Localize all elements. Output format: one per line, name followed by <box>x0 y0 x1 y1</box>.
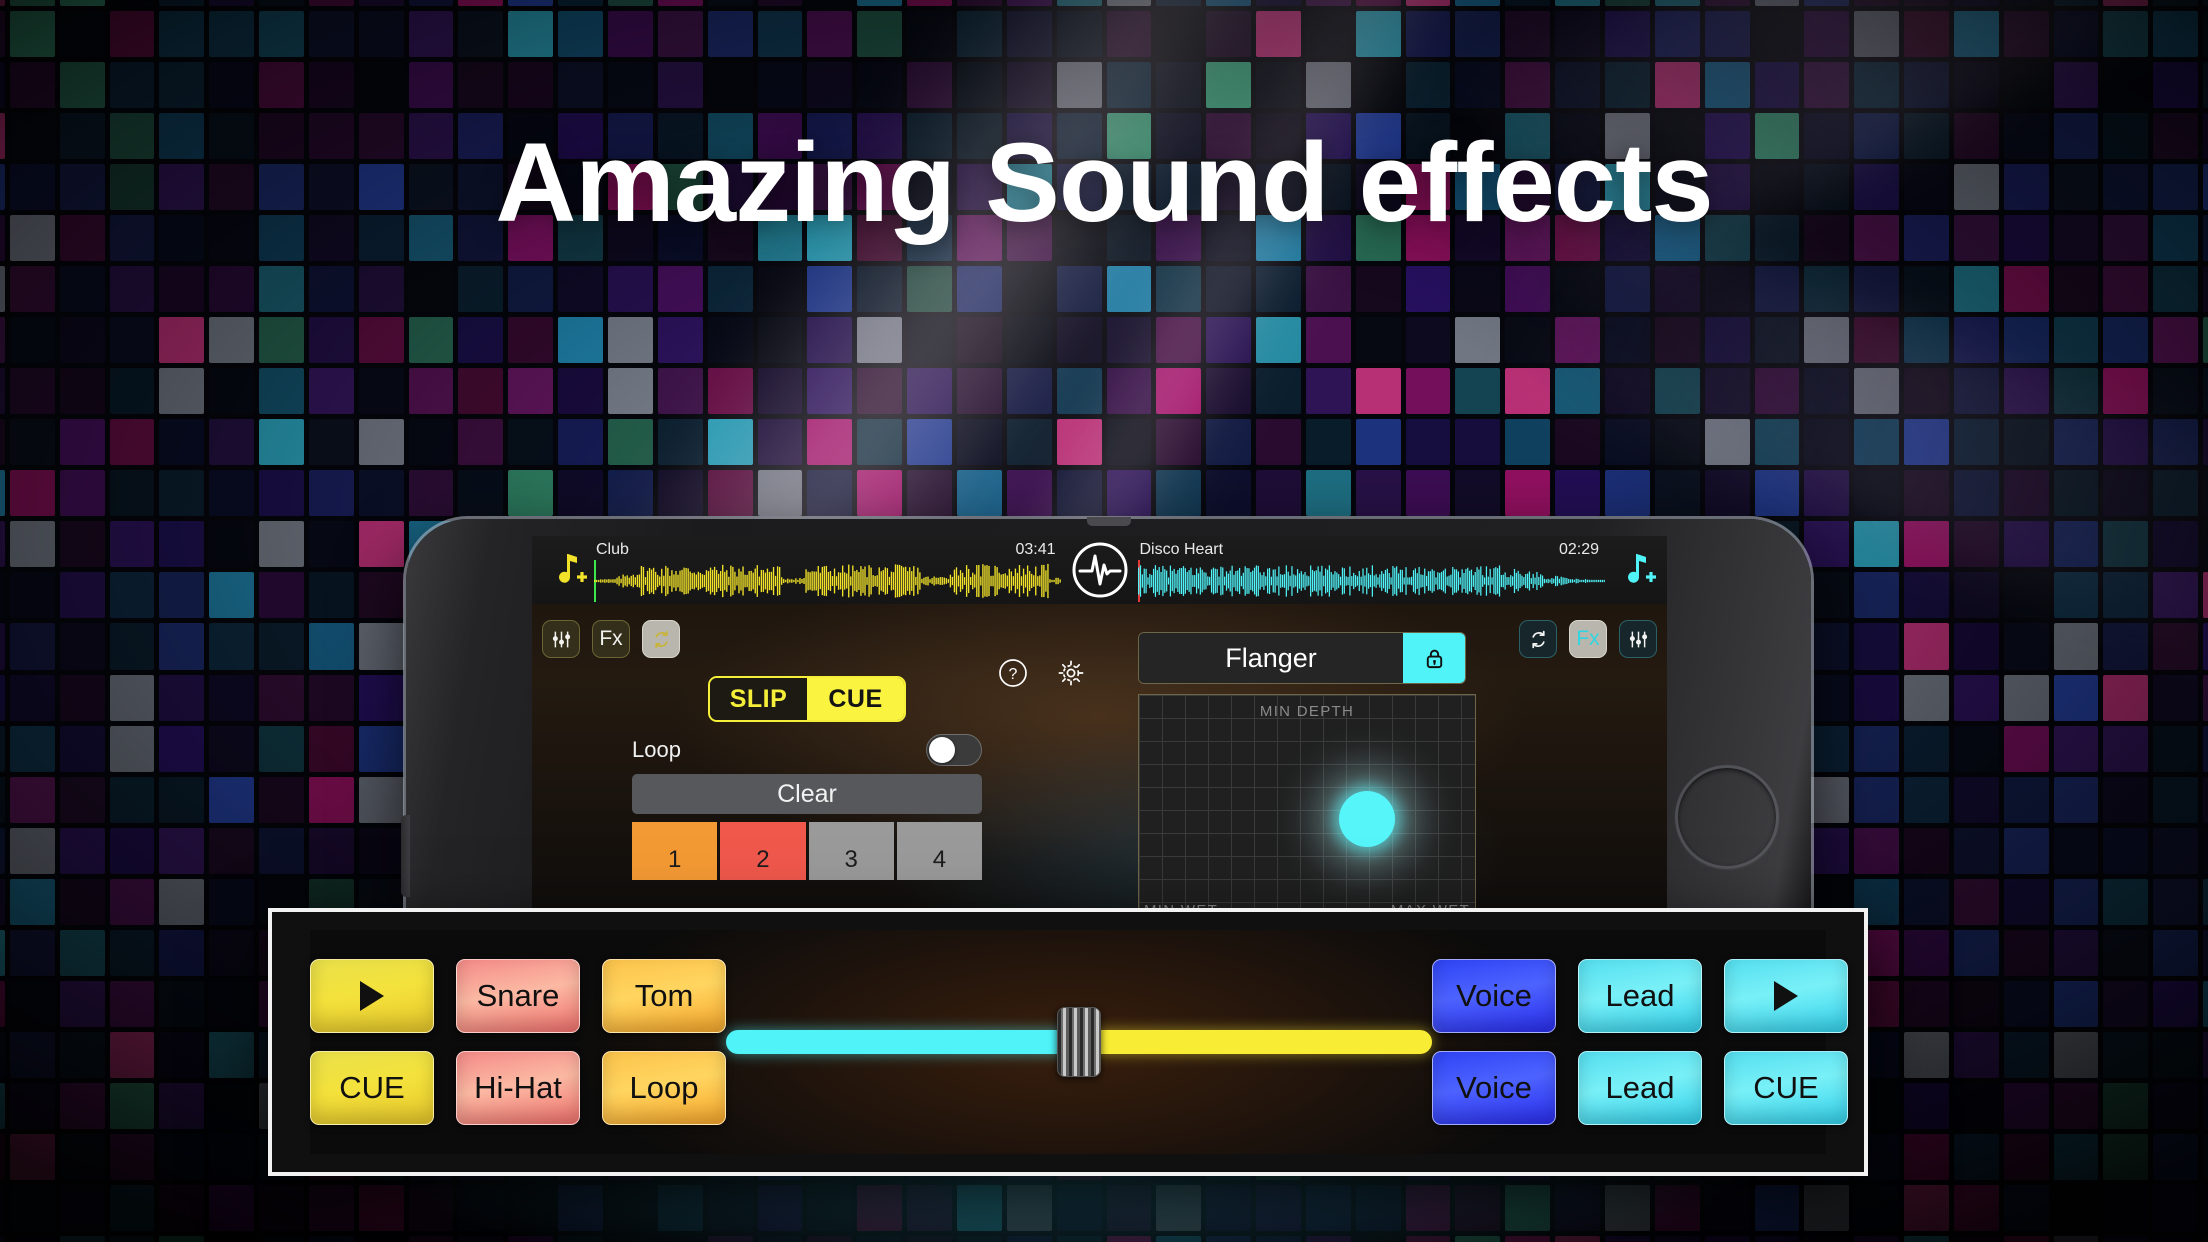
deck-left-waveform-graphic <box>594 562 1062 600</box>
pad-panel: Snare Tom CUE Hi-Hat Loop Voice Lead Voi… <box>268 908 1868 1176</box>
pad-loop[interactable]: Loop <box>602 1051 726 1125</box>
loop-label: Loop <box>632 737 681 763</box>
deck-left-title: Club <box>596 541 629 559</box>
deck-left-duration: 03:41 <box>1015 541 1055 559</box>
effect-name[interactable]: Flanger <box>1139 633 1403 683</box>
loop-sync-icon[interactable] <box>642 620 680 658</box>
deck-left-track[interactable]: Club 03:41 <box>594 536 1062 604</box>
pad-lead-2[interactable]: Lead <box>1578 1051 1702 1125</box>
deck-right-track[interactable]: Disco Heart 02:29 <box>1138 536 1606 604</box>
pad-play-right[interactable] <box>1724 959 1848 1033</box>
eq-sliders-icon[interactable] <box>542 620 580 658</box>
xy-top-label: MIN DEPTH <box>1260 703 1354 720</box>
crossfader-left-track <box>726 1030 1079 1054</box>
cue-pad-1[interactable]: 1 <box>632 822 717 880</box>
app-screen: Club 03:41 Disco Heart <box>532 536 1667 939</box>
pad-lead-1[interactable]: Lead <box>1578 959 1702 1033</box>
xy-effect-pad[interactable]: MIN DEPTH MIN WET MAX WET <box>1138 694 1476 939</box>
play-icon <box>360 981 384 1011</box>
pad-panel-inner: Snare Tom CUE Hi-Hat Loop Voice Lead Voi… <box>310 930 1826 1154</box>
phone-mockup: Club 03:41 Disco Heart <box>406 519 1811 939</box>
slip-cue-toggle[interactable]: SLIP CUE <box>708 676 906 722</box>
pad-voice-2[interactable]: Voice <box>1432 1051 1556 1125</box>
cue-pad-row: 1 2 3 4 <box>632 822 982 880</box>
crossfader-area <box>726 930 1432 1154</box>
help-icon[interactable]: ? <box>998 658 1028 693</box>
pad-cue-right[interactable]: CUE <box>1724 1051 1848 1125</box>
clear-button[interactable]: Clear <box>632 774 982 814</box>
pad-play-left[interactable] <box>310 959 434 1033</box>
gear-icon[interactable] <box>1056 658 1086 693</box>
left-pad-grid: Snare Tom CUE Hi-Hat Loop <box>310 959 726 1125</box>
waveform-sync-icon[interactable] <box>1068 538 1132 602</box>
home-button[interactable] <box>1675 765 1779 869</box>
music-note-plus-icon[interactable] <box>1613 550 1657 590</box>
svg-text:?: ? <box>1009 666 1018 683</box>
deck-left-toolbar: Fx <box>542 620 680 658</box>
deck-left-waveform[interactable]: Club 03:41 <box>532 536 1068 604</box>
deck-right-duration: 02:29 <box>1559 541 1599 559</box>
center-tools: ? <box>998 658 1086 693</box>
deck-right-title: Disco Heart <box>1140 541 1224 559</box>
deck-right-toolbar: Fx <box>1519 620 1657 658</box>
fx-label: Fx <box>1576 627 1599 651</box>
crossfader-knob[interactable] <box>1057 1007 1101 1077</box>
loop-row: Loop <box>632 732 982 768</box>
pad-voice-1[interactable]: Voice <box>1432 959 1556 1033</box>
loop-sync-icon[interactable] <box>1519 620 1557 658</box>
waveform-bar: Club 03:41 Disco Heart <box>532 536 1667 604</box>
play-icon <box>1774 981 1798 1011</box>
cue-pad-3[interactable]: 3 <box>809 822 894 880</box>
slip-segment[interactable]: SLIP <box>710 678 807 720</box>
effect-header: Flanger <box>1138 632 1466 684</box>
right-pad-grid: Voice Lead Voice Lead CUE <box>1432 959 1848 1125</box>
crossfader-right-track <box>1079 1030 1432 1054</box>
pad-snare[interactable]: Snare <box>456 959 580 1033</box>
cue-segment[interactable]: CUE <box>807 678 904 720</box>
fx-icon[interactable]: Fx <box>1569 620 1607 658</box>
xy-pad-handle[interactable] <box>1339 791 1395 847</box>
loop-toggle-knob <box>929 737 955 763</box>
crossfader[interactable] <box>726 1030 1432 1054</box>
fx-label: Fx <box>599 627 622 651</box>
deck-right-waveform[interactable]: Disco Heart 02:29 <box>1132 536 1668 604</box>
pad-tom[interactable]: Tom <box>602 959 726 1033</box>
music-note-plus-icon[interactable] <box>544 550 588 590</box>
phone-speaker <box>1087 517 1131 526</box>
pad-cue-left[interactable]: CUE <box>310 1051 434 1125</box>
panel-glow <box>268 1176 1868 1242</box>
fx-icon[interactable]: Fx <box>592 620 630 658</box>
pad-hihat[interactable]: Hi-Hat <box>456 1051 580 1125</box>
page-title: Amazing Sound effects <box>0 118 2208 247</box>
deck-right-waveform-graphic <box>1138 562 1606 600</box>
eq-sliders-icon[interactable] <box>1619 620 1657 658</box>
cue-pad-2[interactable]: 2 <box>720 822 805 880</box>
lock-icon[interactable] <box>1403 633 1465 683</box>
volume-button[interactable] <box>401 815 410 897</box>
loop-toggle-switch[interactable] <box>926 734 982 766</box>
cue-pad-4[interactable]: 4 <box>897 822 982 880</box>
